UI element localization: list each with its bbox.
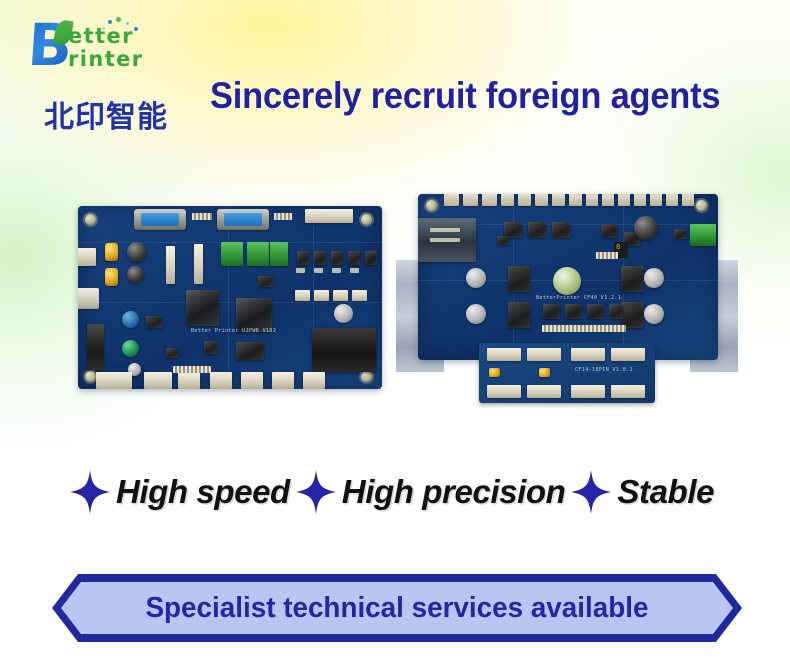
right-board-silkscreen: BetterPrinter CF40_V1.2.1: [536, 295, 621, 301]
logo-chinese-name: 北印智能: [44, 92, 168, 136]
logo-word-better: etter: [68, 24, 134, 48]
logo-dot-icon: [126, 22, 129, 25]
brand-logo: B etter rinter 北印智能: [22, 18, 172, 118]
feature-item-high-precision: High precision: [336, 473, 572, 511]
page-title: Sincerely recruit foreign agents: [210, 74, 694, 118]
feature-item-stable: Stable: [611, 473, 720, 511]
banner-fill: Specialist technical services available: [61, 582, 733, 634]
product-image-mainboard: Better Printer U2FWB V102: [78, 206, 382, 389]
four-point-star-icon: [296, 470, 336, 514]
logo-dot-icon: [102, 27, 105, 30]
feature-list: High speed High precision Stable: [0, 466, 790, 518]
four-point-star-icon: [70, 470, 110, 514]
logo-word-printer: rinter: [68, 47, 144, 71]
product-image-adapter-board: CF14-18PIN_V1.0.1: [479, 343, 655, 403]
banner-label: Specialist technical services available: [146, 592, 649, 625]
four-point-star-icon: [571, 470, 611, 514]
logo-mark: B etter rinter: [22, 18, 162, 74]
logo-dot-icon: [116, 17, 121, 22]
logo-dot-icon: [134, 27, 138, 31]
product-image-carriage-board: 8 BetterPrinter CF40_V1.2.1: [418, 194, 718, 360]
daughter-board-silkscreen: CF14-18PIN_V1.0.1: [575, 367, 633, 373]
left-board-silkscreen: Better Printer U2FWB V102: [191, 328, 276, 334]
promo-poster: B etter rinter 北印智能 Sincerely recruit fo…: [0, 0, 790, 670]
services-banner: Specialist technical services available: [52, 574, 742, 642]
product-photo-group: Better Printer U2FWB V102: [0, 180, 790, 430]
feature-item-high-speed: High speed: [110, 473, 296, 511]
logo-dot-icon: [108, 20, 112, 24]
